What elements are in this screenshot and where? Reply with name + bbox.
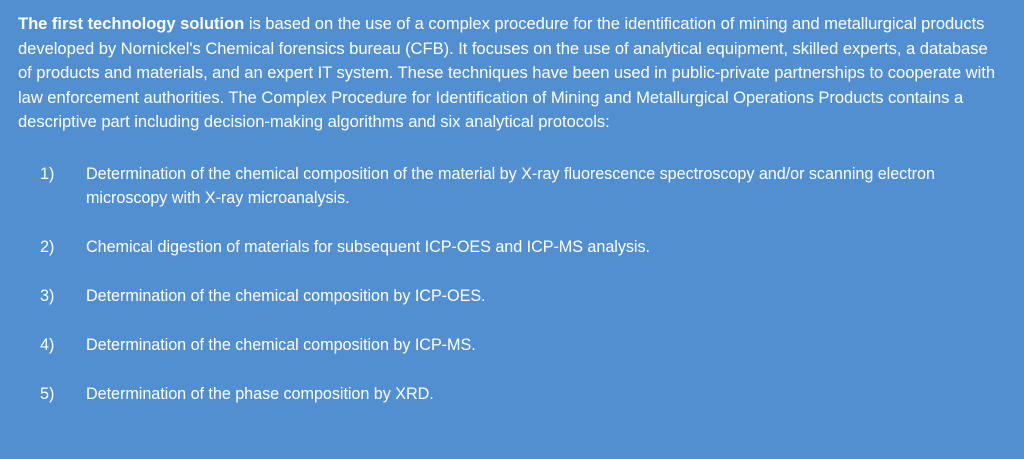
list-item-number: 3): [40, 284, 86, 308]
protocol-list: 1) Determination of the chemical composi…: [18, 162, 1006, 406]
list-item-text: Determination of the chemical compositio…: [86, 284, 1006, 308]
intro-paragraph: The first technology solution is based o…: [18, 12, 1006, 135]
list-item: 1) Determination of the chemical composi…: [18, 162, 1006, 210]
list-item-text: Determination of the phase composition b…: [86, 382, 1006, 406]
list-item: 2) Chemical digestion of materials for s…: [18, 235, 1006, 259]
list-item-number: 1): [40, 162, 86, 186]
list-item-number: 4): [40, 333, 86, 357]
slide-root: The first technology solution is based o…: [0, 0, 1024, 459]
list-item-text: Determination of the chemical compositio…: [86, 333, 1006, 357]
list-item-number: 5): [40, 382, 86, 406]
list-item: 5) Determination of the phase compositio…: [18, 382, 1006, 406]
intro-lead-bold: The first technology solution: [18, 14, 244, 33]
list-item-text: Chemical digestion of materials for subs…: [86, 235, 1006, 259]
list-item: 4) Determination of the chemical composi…: [18, 333, 1006, 357]
list-item-text: Determination of the chemical compositio…: [86, 162, 1006, 210]
list-item-number: 2): [40, 235, 86, 259]
list-item: 3) Determination of the chemical composi…: [18, 284, 1006, 308]
